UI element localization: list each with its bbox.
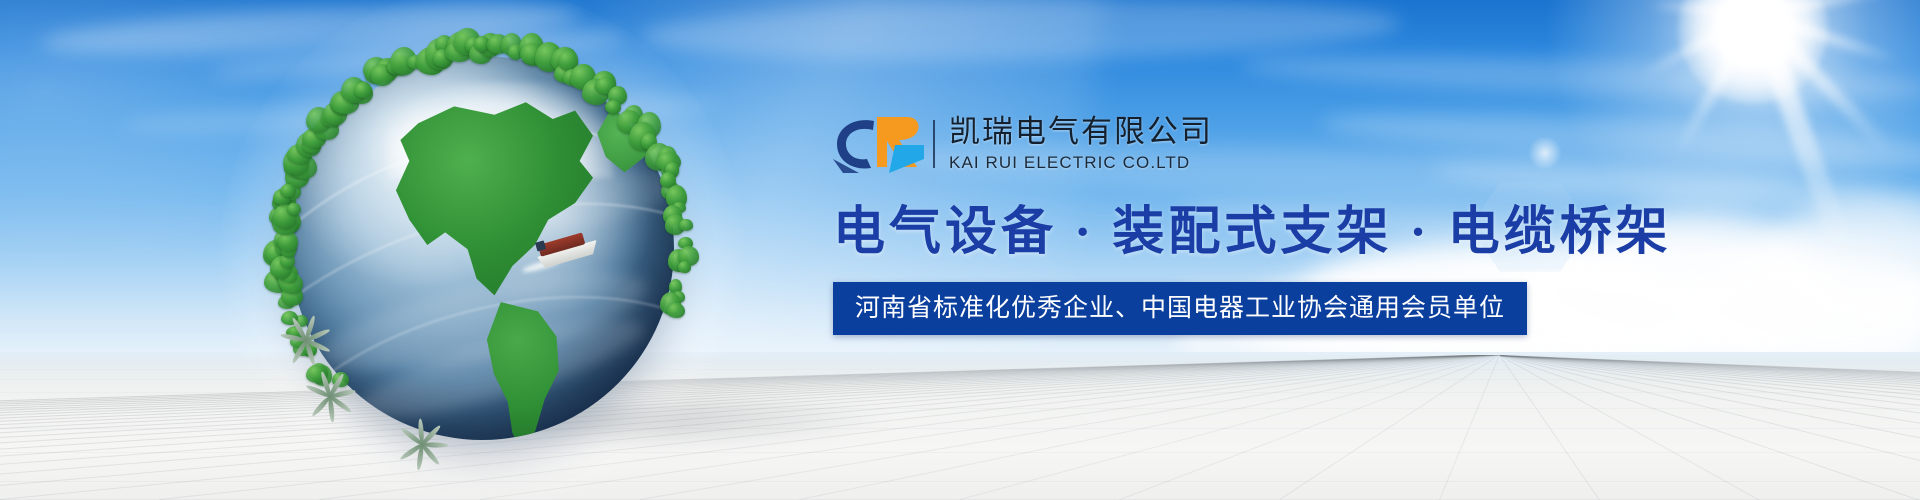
credentials-badge: 河南省标准化优秀企业、中国电器工业协会通用会员单位 — [833, 282, 1527, 335]
forest-rim — [272, 38, 692, 458]
brand-text-block: 凯瑞电气有限公司 KAI RUI ELECTRIC CO.LTD — [949, 114, 1213, 174]
banner-content: 凯瑞电气有限公司 KAI RUI ELECTRIC CO.LTD 电气设备 · … — [833, 108, 1533, 335]
tree-icon — [667, 303, 685, 319]
tree-icon — [354, 82, 372, 98]
company-name-cn: 凯瑞电气有限公司 — [949, 114, 1213, 150]
credentials-badge-text: 河南省标准化优秀企业、中国电器工业协会通用会员单位 — [855, 294, 1505, 322]
cr-monogram-logo-icon — [833, 111, 925, 177]
green-earth-globe — [272, 38, 692, 458]
tree-icon — [280, 184, 296, 197]
banner-headline: 电气设备 · 装配式支架 · 电缆桥架 — [833, 202, 1533, 264]
lens-flare — [1528, 136, 1562, 170]
tree-icon — [606, 100, 621, 114]
tree-icon — [678, 261, 691, 274]
company-name-en: KAI RUI ELECTRIC CO.LTD — [949, 152, 1213, 174]
tree-icon — [287, 203, 301, 216]
brand-lockup: 凯瑞电气有限公司 KAI RUI ELECTRIC CO.LTD — [833, 108, 1533, 180]
hero-banner: 凯瑞电气有限公司 KAI RUI ELECTRIC CO.LTD 电气设备 · … — [0, 0, 1920, 500]
brand-divider — [933, 120, 935, 168]
tree-icon — [679, 219, 694, 231]
